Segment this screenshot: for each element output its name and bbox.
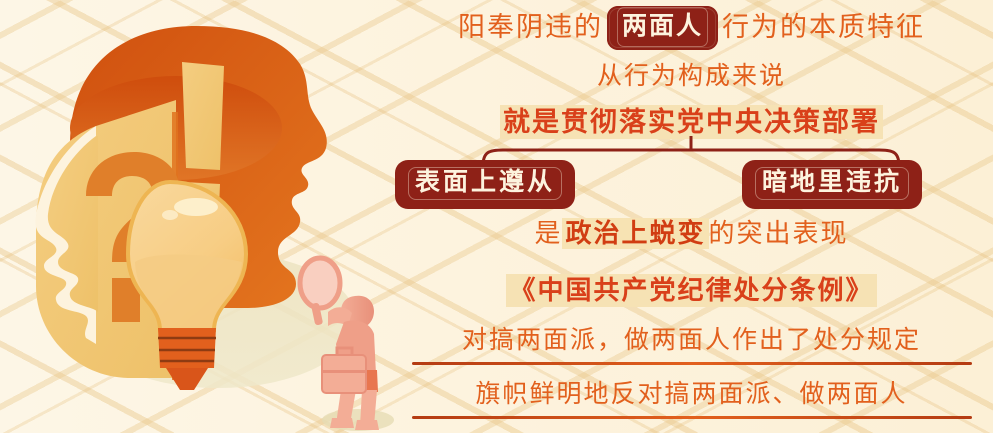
illustration-split-head [0,0,400,433]
regulation-title-highlight: 《中国共产党纪律处分条例》 [506,274,876,307]
headline-line-1: 阳奉阴违的两面人行为的本质特征 [390,8,993,52]
headline-line-5-prefix: 是 [534,219,562,248]
badge-surface-compliance-label: 表面上遵从 [408,167,562,200]
underline-rule-2 [412,416,972,419]
headline-line-5-suffix: 的突出表现 [709,219,849,248]
headline-line-5-highlight: 政治上蜕变 [562,218,708,249]
badge-secret-defiance: 暗地里违抗 [742,160,922,209]
badge-two-faced-person: 两面人 [607,6,718,50]
headline-line-8: 旗帜鲜明地反对搞两面派、做两面人 [390,376,993,414]
headline-line-3-highlight: 就是贯彻落实党中央决策部署 [500,105,883,139]
headline-line-7: 对搞两面派，做两面人作出了处分规定 [390,322,993,360]
badge-two-faced-person-label: 两面人 [617,7,708,47]
figure-shoe-front [355,420,379,430]
headline-line-5: 是政治上蜕变的突出表现 [390,215,993,253]
underline-rule-1 [412,362,972,365]
briefcase-icon [322,348,366,393]
headline-line-2: 从行为构成来说 [390,59,993,95]
bulb-highlight-large [174,198,218,216]
badge-surface-compliance: 表面上遵从 [395,160,575,209]
headline-line-1-prefix: 阳奉阴违的 [458,12,603,42]
poster-canvas: 阳奉阴违的两面人行为的本质特征 从行为构成来说 就是贯彻落实党中央决策部署 表面… [0,0,993,433]
text-content-column: 阳奉阴违的两面人行为的本质特征 从行为构成来说 就是贯彻落实党中央决策部署 表面… [390,0,993,433]
bulb-highlight-small [162,210,178,220]
badge-secret-defiance-label: 暗地里违抗 [755,167,909,200]
headline-line-1-suffix: 行为的本质特征 [722,12,925,42]
figure-shoe-back [330,418,354,428]
headline-line-6: 《中国共产党纪律处分条例》 [390,272,993,310]
